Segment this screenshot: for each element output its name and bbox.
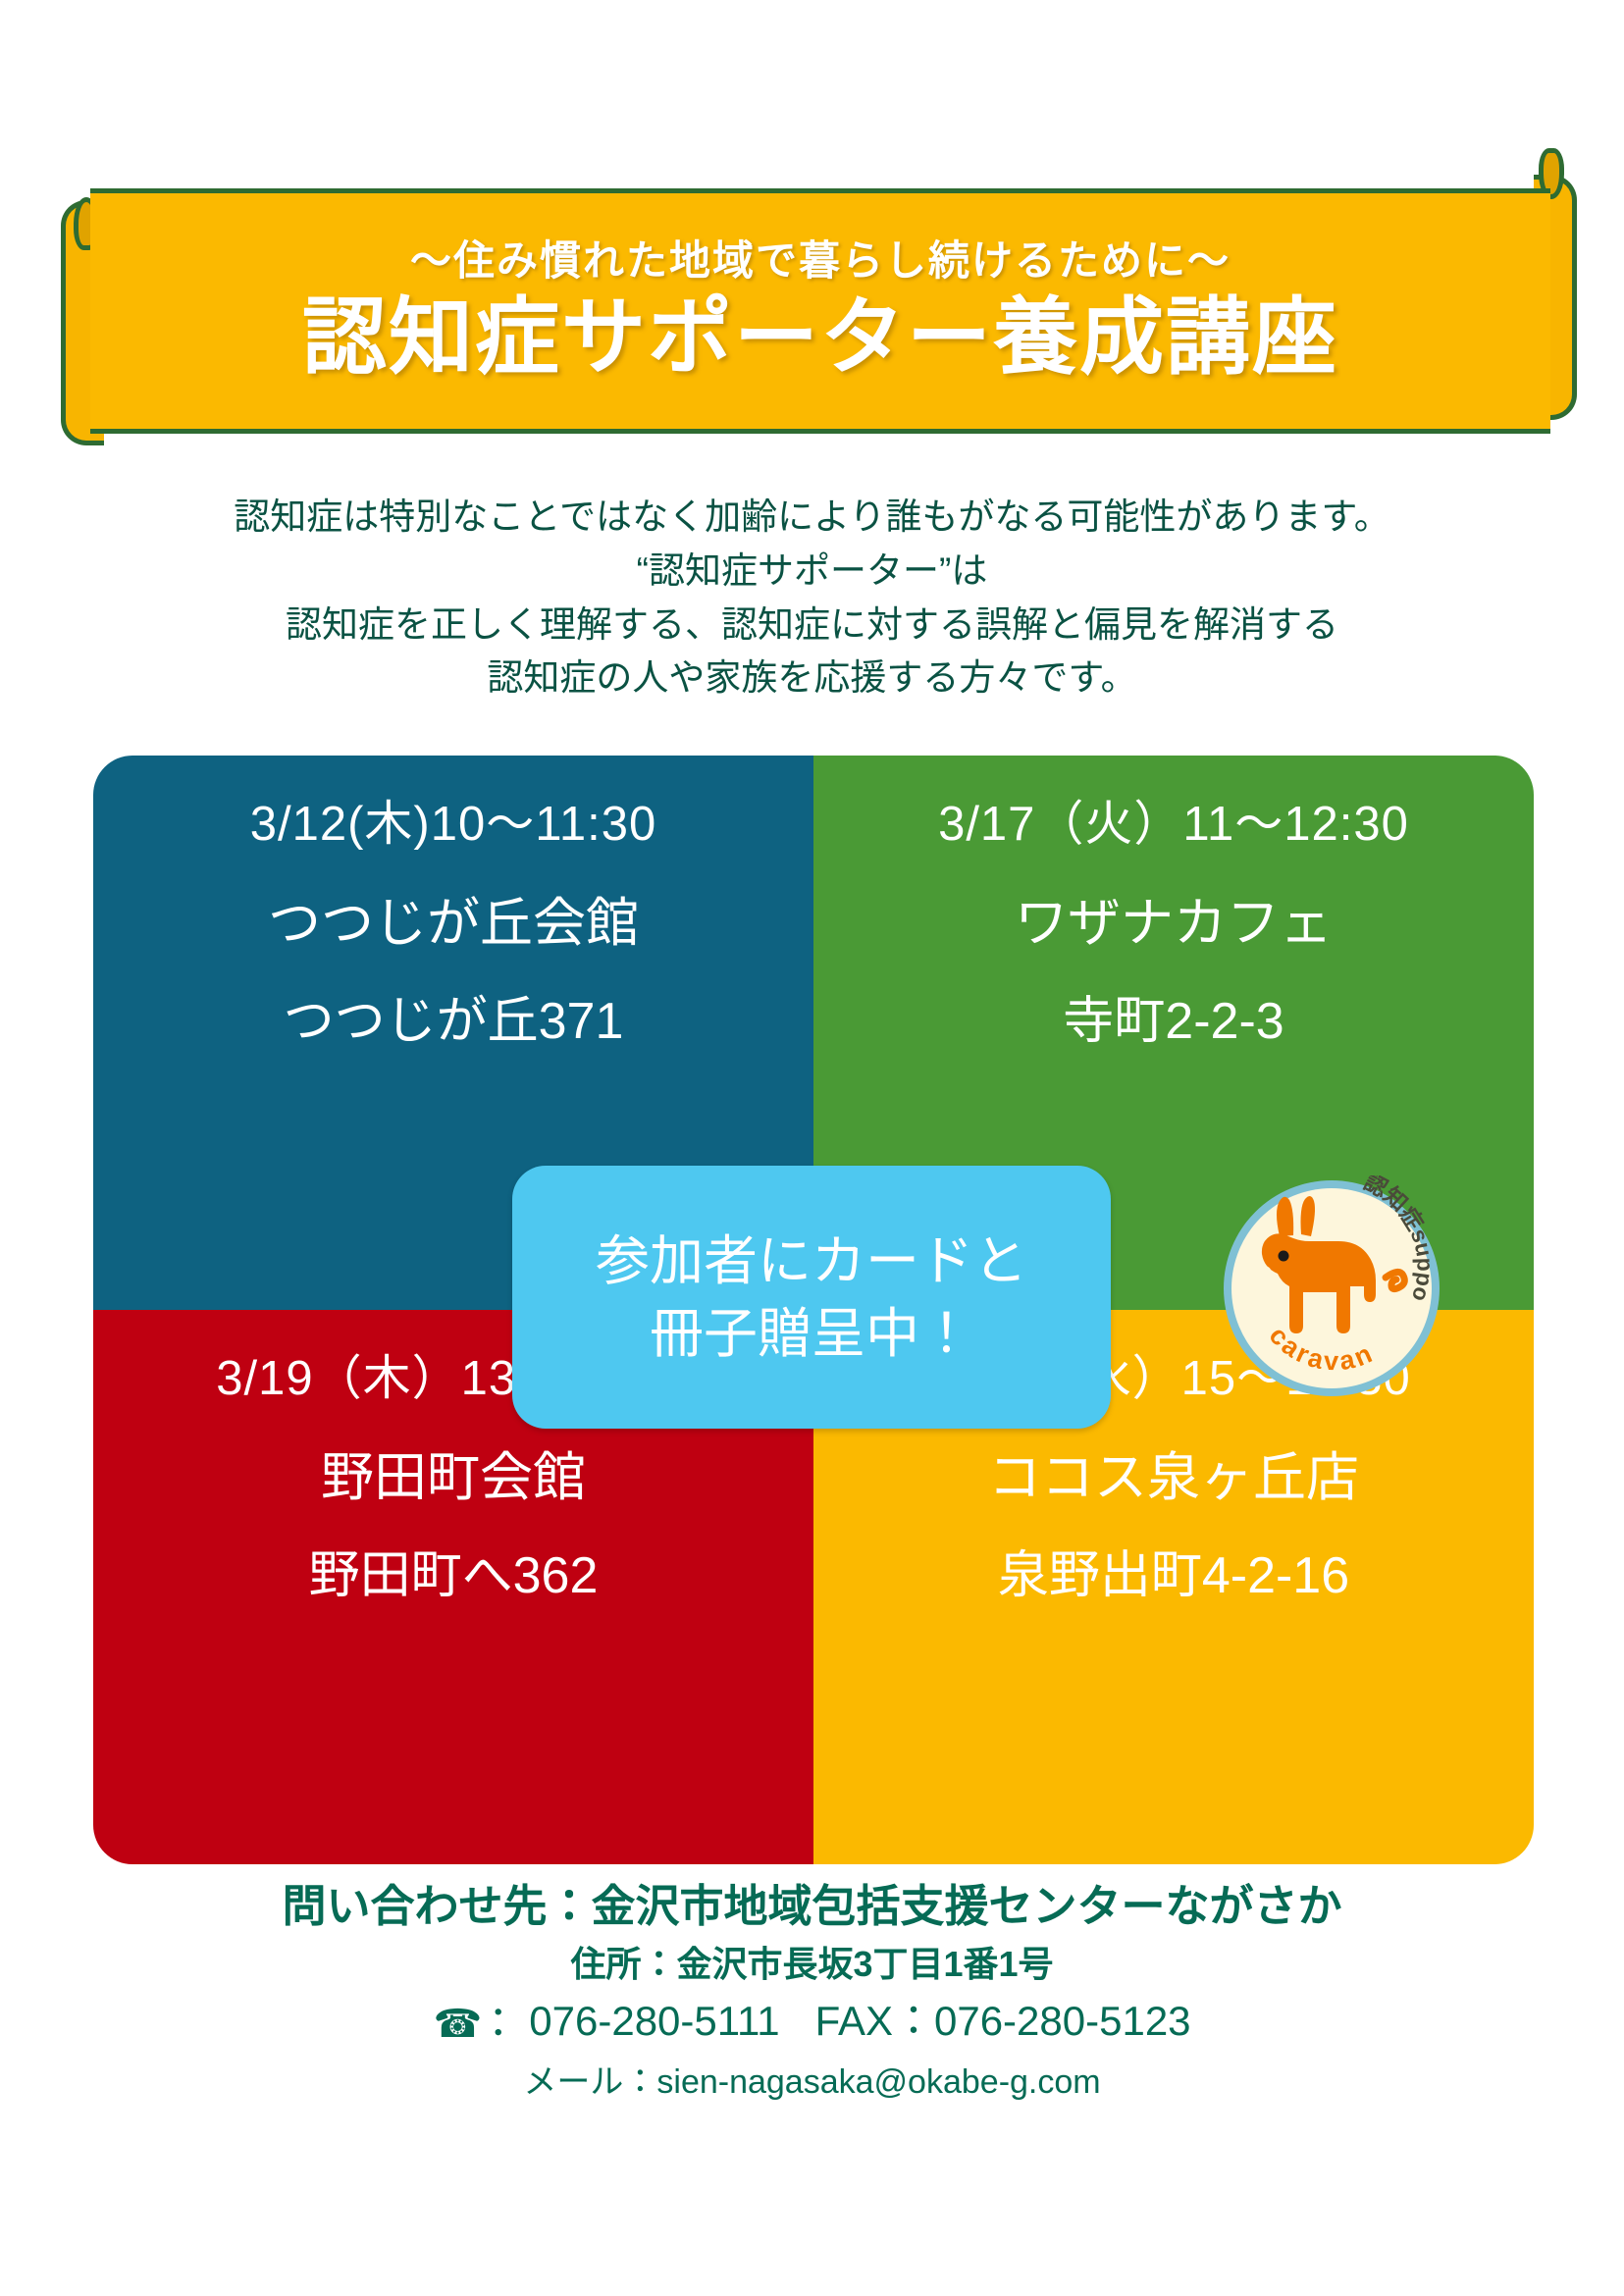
session-venue: つつじが丘会館 (268, 895, 639, 953)
session-venue: ワザナカフェ (1015, 895, 1333, 953)
intro-paragraph: 認知症は特別なことではなく加齢により誰もがなる可能性があります。 “認知症サポー… (0, 491, 1624, 705)
contact-tel: ：076-280-5111 (488, 1996, 779, 2048)
intro-line-3: 認知症を正しく理解する、認知症に対する誤解と偏見を解消する (0, 599, 1624, 652)
session-address: 野田町へ362 (309, 1548, 599, 1604)
gift-callout-bubble: 参加者にカードと 冊子贈呈中！ (512, 1166, 1111, 1429)
gift-callout-line-2: 冊子贈呈中！ (650, 1297, 973, 1370)
contact-footer: 問い合わせ先：金沢市地域包括支援センターながさか 住所：金沢市長坂3丁目1番1号… (0, 1879, 1624, 2103)
session-venue: ココス泉ヶ丘店 (988, 1449, 1359, 1507)
contact-fax: FAX：076-280-5123 (815, 1996, 1191, 2048)
intro-line-2: “認知症サポーター”は (0, 545, 1624, 599)
session-datetime: 3/17（火）11～12:30 (938, 799, 1409, 852)
intro-line-1: 認知症は特別なことではなく加齢により誰もがなる可能性があります。 (0, 491, 1624, 545)
session-address: つつじが丘371 (284, 994, 624, 1050)
header-banner: ～住み慣れた地域で暮らし続けるために～ 認知症サポーター養成講座 (61, 175, 1577, 459)
telephone-icon: ☎ (433, 2005, 482, 2044)
contact-address: 住所：金沢市長坂3丁目1番1号 (0, 1942, 1624, 1986)
contact-phone-row: ☎ ：076-280-5111 FAX：076-280-5123 (0, 1996, 1624, 2048)
donkey-icon: 認知症supporter caravan (1219, 1175, 1444, 1401)
gift-callout-line-1: 参加者にカードと (596, 1225, 1027, 1297)
banner-body: ～住み慣れた地域で暮らし続けるために～ 認知症サポーター養成講座 (90, 188, 1550, 434)
banner-subtitle: ～住み慣れた地域で暮らし続けるために～ (410, 240, 1231, 282)
dementia-supporter-caravan-logo: 認知症supporter caravan (1219, 1175, 1444, 1401)
page-title: 認知症サポーター養成講座 (302, 293, 1338, 382)
contact-email: メール：sien-nagasaka@okabe-g.com (0, 2061, 1624, 2104)
session-address: 泉野出町4-2-16 (998, 1548, 1349, 1604)
contact-organization: 問い合わせ先：金沢市地域包括支援センターながさか (0, 1879, 1624, 1934)
session-datetime: 3/12(木)10～11:30 (250, 799, 657, 852)
intro-line-4: 認知症の人や家族を応援する方々です。 (0, 652, 1624, 705)
session-address: 寺町2-2-3 (1063, 994, 1283, 1050)
session-venue: 野田町会館 (321, 1449, 586, 1507)
